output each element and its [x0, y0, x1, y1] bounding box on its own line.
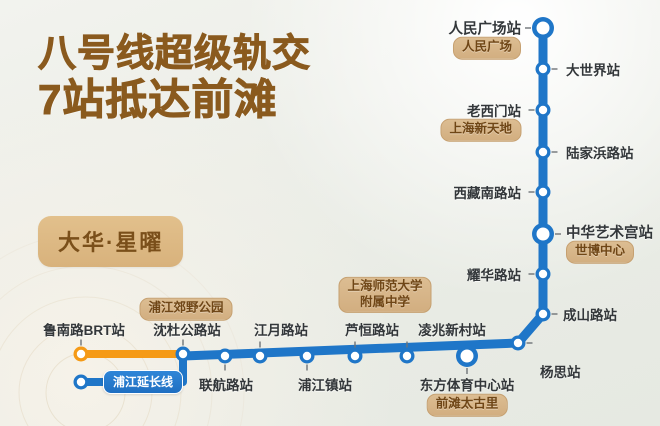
station-dot-dashijie[interactable] [536, 62, 551, 77]
lbl-zhonghua-yishugong: 中华艺术宫站 [566, 222, 653, 243]
lbl-lujiabang-lu: 陆家浜路站 [566, 142, 634, 162]
station-dot-branch-terminus[interactable] [74, 375, 89, 390]
station-dot-lianhang-lu[interactable] [218, 349, 233, 364]
station-dot-lingzhao-xincun[interactable] [400, 349, 415, 364]
lbl-lingzhao-xincun: 凌兆新村站 [418, 319, 486, 339]
lbl-yaohua-lu: 耀华路站 [467, 264, 521, 284]
subway-line-poster: 八号线超级轨交 7站抵达前滩 大华·星曜 人民广场站大世界站老西门站陆家浜路站西… [0, 0, 660, 426]
lbl-pujiangzhen: 浦江镇站 [298, 374, 352, 394]
station-dot-lujiabang-lu[interactable] [536, 145, 551, 160]
lbl-laoximen: 老西门站 [467, 100, 521, 120]
poi-qiantan-taikooli: 前滩太古里 [427, 394, 508, 417]
lbl-lianhang-lu: 联航路站 [199, 374, 253, 394]
station-dot-yangsi[interactable] [511, 336, 526, 351]
lbl-dongfang-tiyu: 东方体育中心站 [420, 374, 515, 394]
poi-xintiandi: 上海新天地 [440, 119, 521, 142]
poi-pujiang-jiaoye: 浦江郊野公园 [139, 298, 232, 321]
station-dot-shendu-gonglu[interactable] [176, 347, 191, 362]
lbl-jiangyue-lu: 江月路站 [254, 319, 308, 339]
station-dot-dongfang-tiyu[interactable] [456, 345, 478, 367]
station-dot-xizang-nan-lu[interactable] [536, 185, 551, 200]
lbl-lunan-lu-brt: 鲁南路BRT站 [43, 319, 125, 339]
poi-renmin-guangchang: 人民广场 [453, 37, 521, 60]
station-dot-chengshan-lu[interactable] [536, 307, 551, 322]
lbl-shendu-gonglu: 沈杜公路站 [153, 319, 221, 339]
station-dot-yaohua-lu[interactable] [536, 267, 551, 282]
poi-shibo-zhongxin: 世博中心 [566, 241, 634, 264]
lbl-chengshan-lu: 成山路站 [563, 304, 617, 324]
station-dot-lunan-lu-brt[interactable] [74, 347, 89, 362]
station-dot-laoximen[interactable] [536, 103, 551, 118]
pujiang-branch-tag: 浦江延长线 [103, 370, 183, 394]
station-dot-renmin-guangchang[interactable] [532, 17, 554, 39]
station-dot-luheng-lu[interactable] [348, 349, 363, 364]
lbl-renmin-guangchang: 人民广场站 [449, 18, 522, 39]
lbl-luheng-lu: 芦恒路站 [345, 319, 399, 339]
lbl-xizang-nan-lu: 西藏南路站 [454, 182, 522, 202]
station-dot-zhonghua-yishugong[interactable] [532, 223, 554, 245]
lbl-yangsi: 杨思站 [540, 361, 581, 381]
lbl-dashijie: 大世界站 [566, 59, 620, 79]
station-dot-jiangyue-lu[interactable] [253, 349, 268, 364]
poi-shishida-fuzhong: 上海师范大学附属中学 [338, 277, 431, 313]
station-dot-pujiangzhen[interactable] [300, 349, 315, 364]
